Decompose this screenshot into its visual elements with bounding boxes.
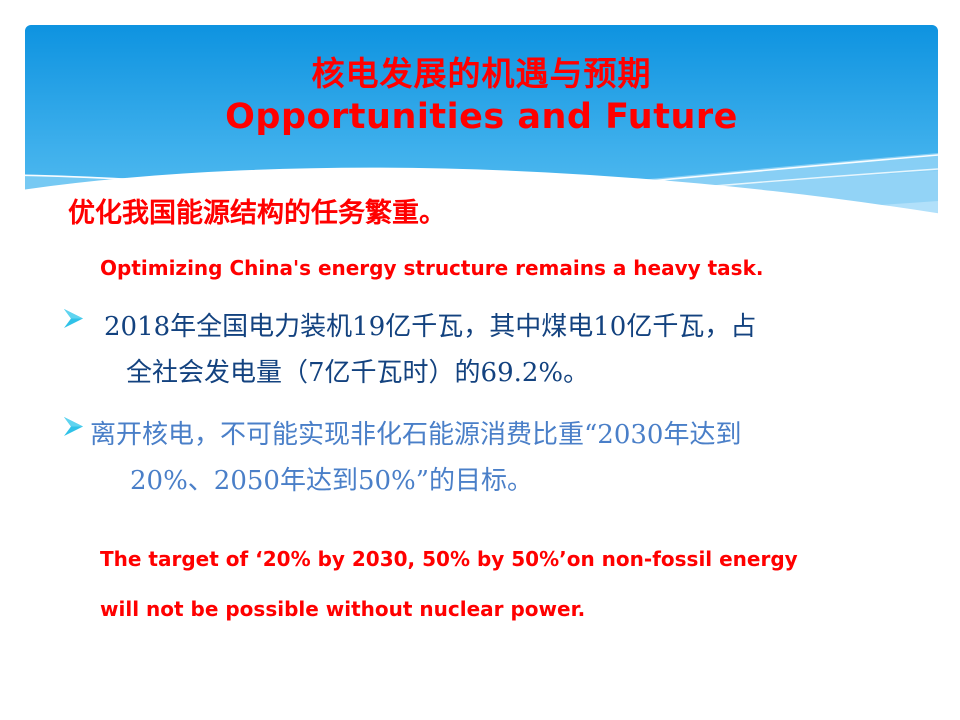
bullet-item: 2018年全国电力装机19亿千瓦，其中煤电10亿千瓦，占 全社会发电量（7亿千瓦… [0,304,960,396]
slide-canvas: 核电发展的机遇与预期 Opportunities and Future 优化我国… [0,0,960,720]
bullet-line: 2018年全国电力装机19亿千瓦，其中煤电10亿千瓦，占 [104,304,960,350]
page-title-chinese: 核电发展的机遇与预期 [25,52,938,96]
closing-paragraph-english: The target of ‘20% by 2030, 50% by 50%’o… [100,534,960,634]
title-block: 核电发展的机遇与预期 Opportunities and Future [25,52,938,138]
bullet-text: 离开核电，不可能实现非化石能源消费比重“2030年达到 20%、2050年达到5… [88,412,960,504]
closing-line: will not be possible without nuclear pow… [100,584,960,634]
section-heading-chinese: 优化我国能源结构的任务繁重。 [68,196,960,232]
bullet-item: 离开核电，不可能实现非化石能源消费比重“2030年达到 20%、2050年达到5… [0,412,960,504]
bullet-line: 20%、2050年达到50%”的目标。 [90,458,960,504]
arrow-bullet-icon [62,304,88,332]
bullet-line: 全社会发电量（7亿千瓦时）的69.2%。 [104,350,960,396]
bullet-text: 2018年全国电力装机19亿千瓦，其中煤电10亿千瓦，占 全社会发电量（7亿千瓦… [88,304,960,396]
closing-line: The target of ‘20% by 2030, 50% by 50%’o… [100,534,960,584]
page-title-english: Opportunities and Future [25,96,938,138]
section-heading-english: Optimizing China's energy structure rema… [100,254,960,282]
body-content: 优化我国能源结构的任务繁重。 Optimizing China's energy… [0,196,960,634]
bullet-line: 离开核电，不可能实现非化石能源消费比重“2030年达到 [90,412,960,458]
arrow-bullet-icon [62,412,88,440]
